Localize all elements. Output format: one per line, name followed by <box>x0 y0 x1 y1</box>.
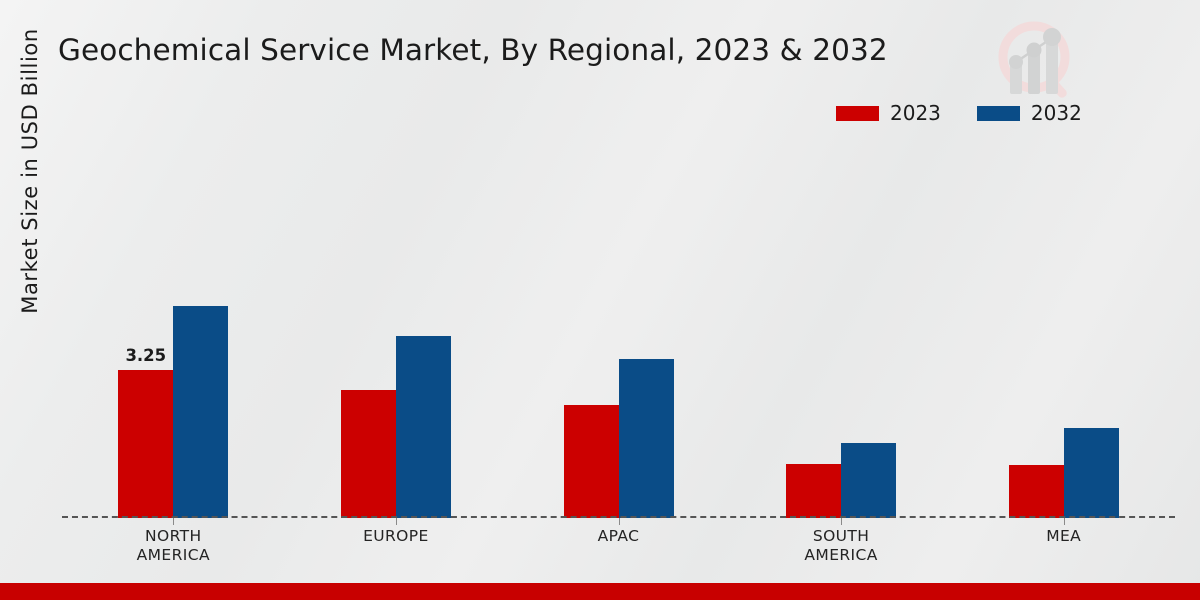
chart-title: Geochemical Service Market, By Regional,… <box>58 33 888 67</box>
bar-2032-europe[interactable] <box>396 336 451 518</box>
x-axis-category-north-america: NORTHAMERICA <box>78 527 268 565</box>
category-label-line: SOUTH <box>746 527 936 546</box>
category-label-line: AMERICA <box>78 546 268 565</box>
legend-swatch-2032 <box>977 106 1020 121</box>
y-axis-label: Market Size in USD Billion <box>18 0 42 351</box>
chart-legend: 2023 2032 <box>836 103 1082 123</box>
plot-area: 3.25 <box>62 140 1175 518</box>
x-axis-category-apac: APAC <box>524 527 714 546</box>
chart-canvas: Geochemical Service Market, By Regional,… <box>0 0 1200 600</box>
bar-group <box>786 140 896 518</box>
x-axis-tick <box>841 518 842 525</box>
bar-2023-apac[interactable] <box>564 405 619 518</box>
x-axis-tick <box>1064 518 1065 525</box>
x-axis-category-mea: MEA <box>969 527 1159 546</box>
bar-2032-north-america[interactable] <box>173 306 228 518</box>
footer-accent-bar <box>0 583 1200 600</box>
bar-2032-south-america[interactable] <box>841 443 896 518</box>
bar-group <box>341 140 451 518</box>
x-axis-category-europe: EUROPE <box>301 527 491 546</box>
legend-item-2023[interactable]: 2023 <box>836 103 941 123</box>
category-label-line: APAC <box>524 527 714 546</box>
legend-swatch-2023 <box>836 106 879 121</box>
bar-2023-north-america[interactable] <box>118 370 173 518</box>
legend-item-2032[interactable]: 2032 <box>977 103 1082 123</box>
bar-group <box>564 140 674 518</box>
x-axis-tick <box>619 518 620 525</box>
bar-group: 3.25 <box>118 140 228 518</box>
category-label-line: NORTH <box>78 527 268 546</box>
legend-label-2023: 2023 <box>890 103 941 123</box>
bar-2032-apac[interactable] <box>619 359 674 518</box>
x-axis-tick <box>396 518 397 525</box>
x-axis-category-south-america: SOUTHAMERICA <box>746 527 936 565</box>
bar-2032-mea[interactable] <box>1064 428 1119 518</box>
bar-group <box>1009 140 1119 518</box>
bar-2023-south-america[interactable] <box>786 464 841 518</box>
category-label-line: AMERICA <box>746 546 936 565</box>
bar-2023-europe[interactable] <box>341 390 396 518</box>
bar-2023-mea[interactable] <box>1009 465 1064 518</box>
category-label-line: EUROPE <box>301 527 491 546</box>
watermark-logo-icon <box>986 12 1090 108</box>
x-axis-tick <box>173 518 174 525</box>
bar-value-label: 3.25 <box>118 346 173 365</box>
legend-label-2032: 2032 <box>1031 103 1082 123</box>
category-label-line: MEA <box>969 527 1159 546</box>
